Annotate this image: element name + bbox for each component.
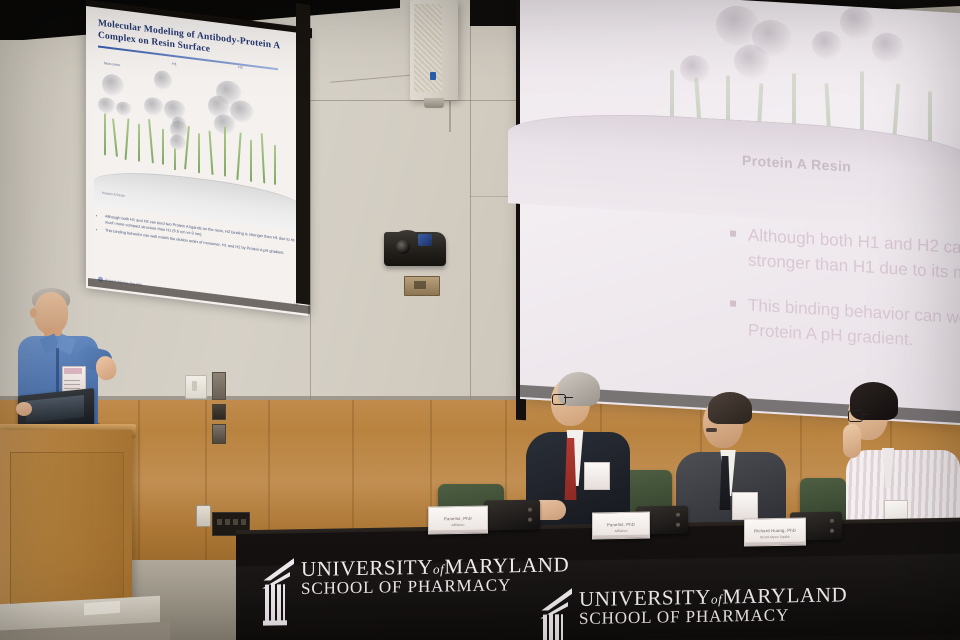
av-control-panel[interactable]	[212, 372, 226, 400]
placard-name: Richard Huang, PhD	[745, 527, 805, 533]
molecule-cluster	[840, 6, 874, 40]
av-panel-tertiary[interactable]	[212, 424, 226, 444]
right-slide-bullets: Although both H1 and H2 can bind stronge…	[730, 221, 960, 376]
lecture-hall-photo: Molecular Modeling of Antibody-Protein A…	[0, 0, 960, 640]
column-icon	[540, 588, 572, 640]
right-bullet-text: This binding behavior can well mat Prote…	[748, 292, 960, 357]
speaker-bracket	[424, 98, 444, 108]
panelist-three-hand-on-chin	[843, 424, 861, 458]
right-bullet-line: stronger than H1 due to its much m	[748, 250, 960, 285]
panelist-one-glasses	[552, 394, 566, 405]
right-bullet-line: Protein A pH gradient.	[748, 320, 913, 349]
table-banner-logo-primary: UNIVERSITYofMARYLAND SCHOOL OF PHARMACY	[262, 553, 569, 624]
column-icon	[262, 558, 294, 625]
panelist-two-hair	[708, 392, 752, 424]
molecule-monomer-lobe	[116, 101, 132, 117]
plaque-engraving	[414, 281, 426, 289]
figure-label-monomer: Monomer	[104, 61, 121, 67]
right-slide-content: Protein A Resin Although both H1 and H2 …	[520, 0, 960, 425]
molecule-monomer	[102, 73, 124, 98]
light-switch-toggle[interactable]	[192, 381, 197, 391]
banner-text: UNIVERSITYofMARYLAND SCHOOL OF PHARMACY	[301, 553, 569, 598]
name-placard: Panelist, PhD Affiliation	[428, 505, 488, 534]
bullet-marker-icon	[730, 300, 736, 306]
placard-org: Bristol-Myers Squibb	[745, 534, 805, 539]
molecule-h1-lobe	[144, 96, 164, 117]
panelist-one-glasses-bridge	[564, 397, 573, 398]
name-placard: Panelist, PhD Affiliation	[592, 511, 650, 539]
left-projection-screen: Molecular Modeling of Antibody-Protein A…	[86, 6, 308, 316]
table-banner-logo-secondary: UNIVERSITYofMARYLAND SCHOOL OF PHARMACY	[540, 583, 847, 640]
podium-front-panel	[10, 452, 124, 604]
left-slide-content: Molecular Modeling of Antibody-Protein A…	[86, 6, 308, 316]
molecule-cluster	[812, 30, 842, 60]
right-slide-bullet: This binding behavior can well mat Prote…	[730, 291, 960, 356]
placard-org: Affiliation	[429, 522, 487, 527]
molecule-monomer-lobe	[98, 96, 116, 114]
figure-label-h2: H2	[238, 65, 243, 70]
banner-line-2: SCHOOL OF PHARMACY	[301, 576, 569, 599]
placard-name: Panelist, PhD	[593, 522, 649, 528]
placard-org: Affiliation	[593, 529, 649, 534]
bullet-marker-icon	[730, 230, 736, 236]
left-slide-figure: Monomer H1 H2	[98, 50, 296, 225]
right-bullet-text: Although both H1 and H2 can bind stronge…	[748, 222, 960, 288]
banner-maryland: MARYLAND	[444, 552, 569, 578]
figure-label-h1: H1	[172, 62, 177, 67]
speaker-grille	[414, 4, 442, 92]
presenter-resting-hand	[16, 402, 32, 416]
placard-name: Panelist, PhD	[429, 515, 487, 521]
panelist-three-glasses	[848, 410, 863, 422]
banner-line-2-secondary: SCHOOL OF PHARMACY	[579, 606, 847, 629]
molecule-cluster	[872, 32, 904, 64]
wall-panel-joint	[470, 0, 471, 400]
right-projection-screen: Protein A Resin Although both H1 and H2 …	[520, 0, 960, 425]
banner-text-secondary: UNIVERSITYofMARYLAND SCHOOL OF PHARMACY	[579, 583, 847, 628]
desk-microphone[interactable]	[484, 500, 540, 531]
panelist-two-badge	[732, 492, 758, 520]
wall-outlet[interactable]	[196, 505, 211, 527]
wall-panel-joint	[310, 0, 311, 400]
left-screen-side-casing	[296, 3, 310, 305]
presenter-ear	[30, 308, 37, 318]
panelist-two-mustache	[706, 428, 717, 432]
speaker-badge-icon	[430, 72, 436, 80]
right-slide-bullet: Although both H1 and H2 can bind stronge…	[730, 221, 960, 286]
molecule-h1	[154, 70, 172, 92]
presenter-badge-header	[64, 368, 82, 374]
panelist-one-badge	[584, 462, 610, 490]
banner-of-secondary: of	[711, 591, 722, 606]
camera-wall-shelf	[384, 232, 446, 266]
panelist-three-glasses-bridge	[861, 414, 870, 415]
banner-of: of	[433, 561, 444, 576]
foreground-paper	[84, 601, 120, 616]
camera-connector	[418, 234, 432, 246]
av-panel-secondary[interactable]	[212, 404, 226, 420]
banner-maryland-secondary: MARYLAND	[722, 582, 847, 608]
camera-lens-icon	[396, 240, 410, 254]
name-placard: Richard Huang, PhD Bristol-Myers Squibb	[744, 517, 806, 546]
